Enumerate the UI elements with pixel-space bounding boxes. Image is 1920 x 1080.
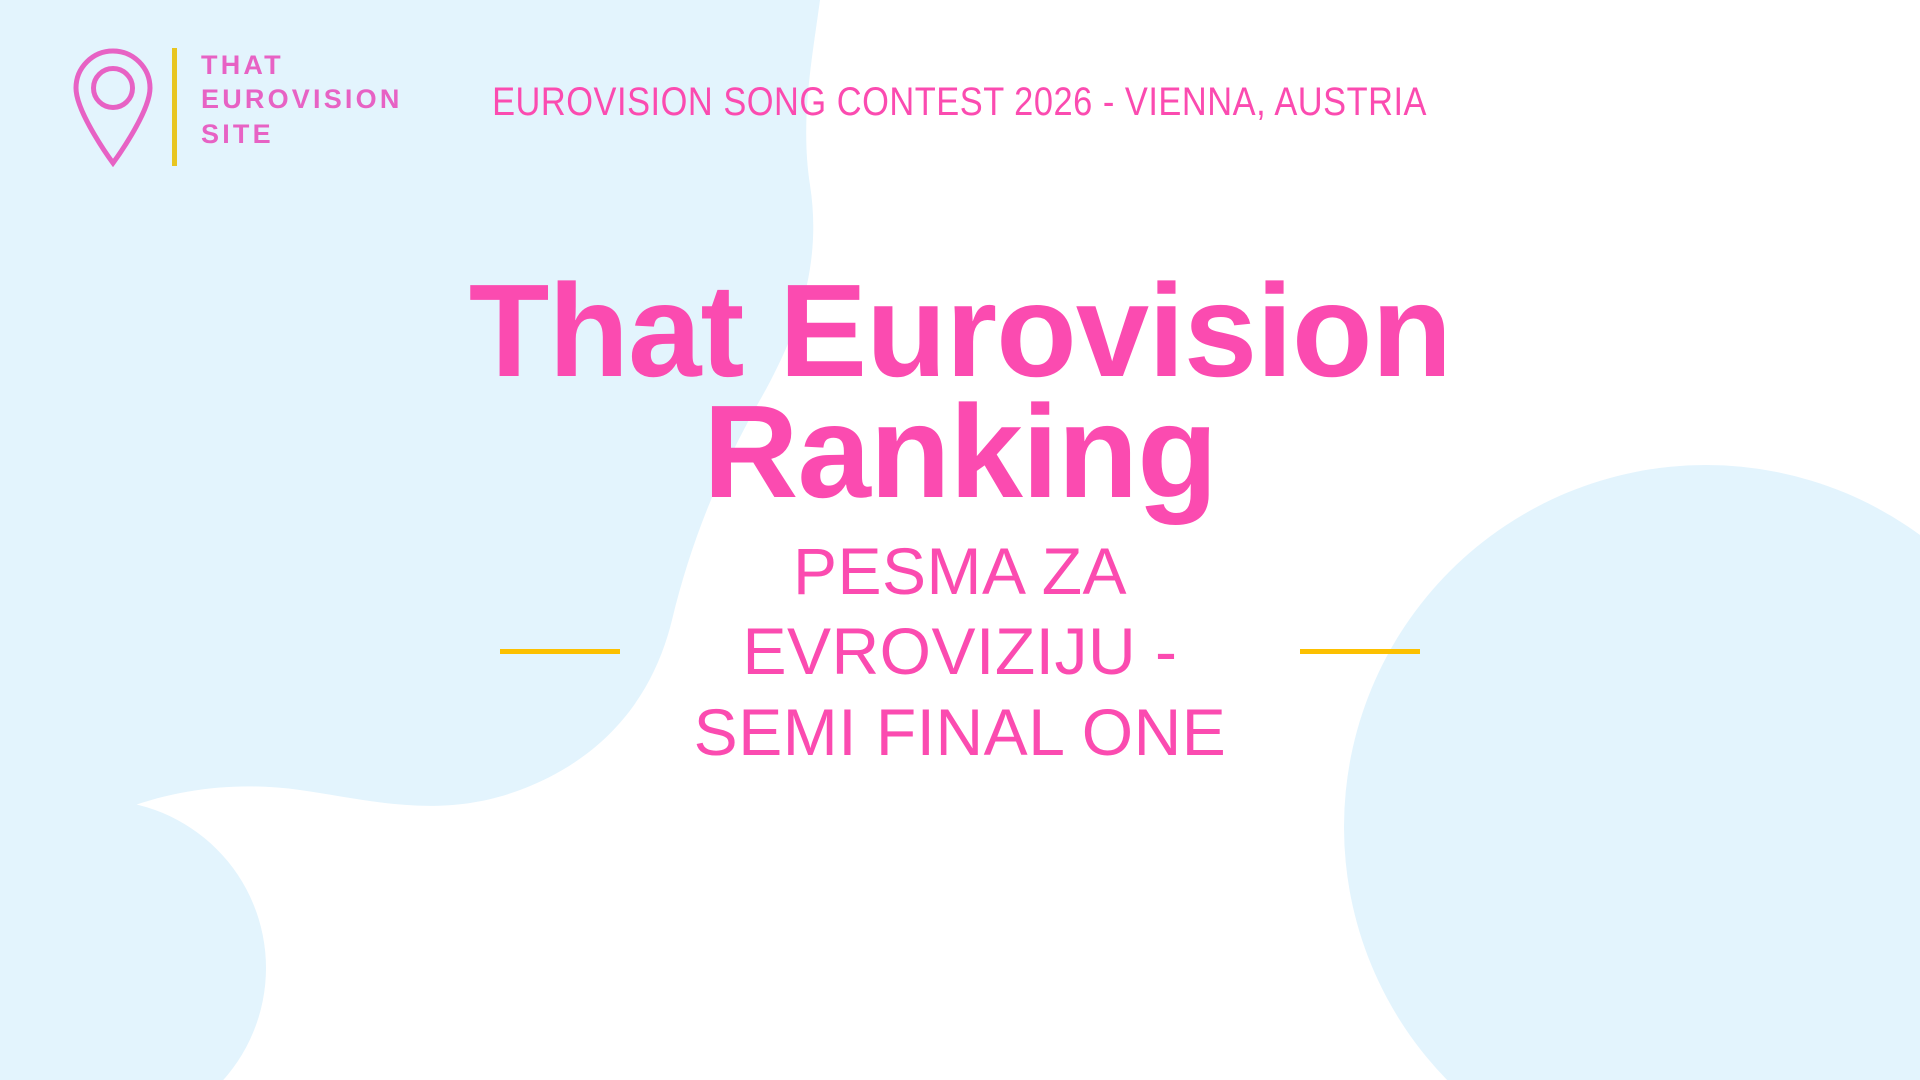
title-card: THAT EUROVISION SITE EUROVISION SONG CON… xyxy=(0,0,1920,1080)
title-content: That Eurovision Ranking PESMA ZA EVROVIZ… xyxy=(0,270,1920,772)
event-header: EUROVISION SONG CONTEST 2026 - VIENNA, A… xyxy=(0,80,1920,125)
rule-right xyxy=(1300,649,1420,654)
page-title: That Eurovision Ranking xyxy=(420,270,1500,513)
subtitle-row: PESMA ZA EVROVIZIJU - SEMI FINAL ONE xyxy=(0,531,1920,773)
logo-line-1: THAT xyxy=(201,51,403,79)
rule-left xyxy=(500,649,620,654)
event-header-text: EUROVISION SONG CONTEST 2026 - VIENNA, A… xyxy=(493,80,1428,125)
circle-shape-bottom-left xyxy=(0,800,266,1080)
subtitle: PESMA ZA EVROVIZIJU - SEMI FINAL ONE xyxy=(660,531,1260,773)
